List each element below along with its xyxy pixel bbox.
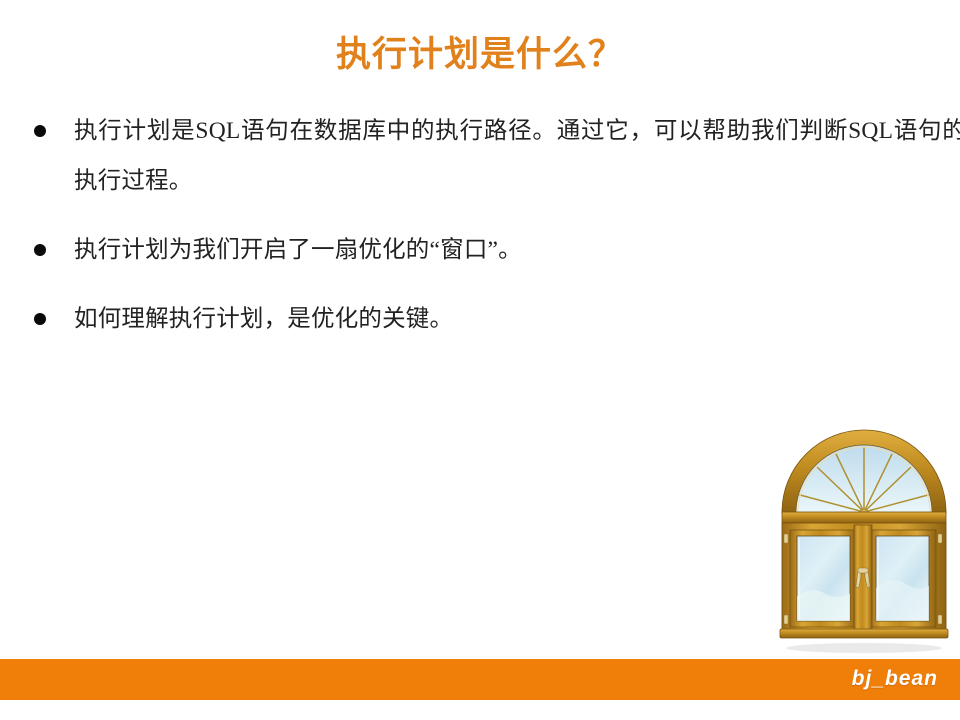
footer-bar: bj_bean xyxy=(0,659,960,700)
bullet-list: 执行计划是SQL语句在数据库中的执行路径。通过它，可以帮助我们判断SQL语句的执… xyxy=(28,106,948,363)
bullet-marker-icon xyxy=(34,244,46,256)
bullet-marker-icon xyxy=(34,313,46,325)
list-item: 执行计划是SQL语句在数据库中的执行路径。通过它，可以帮助我们判断SQL语句的执… xyxy=(28,106,948,206)
footer-brand-label: bj_bean xyxy=(852,667,938,691)
list-item-text: 执行计划为我们开启了一扇优化的“窗口”。 xyxy=(74,225,948,275)
list-item-text: 执行计划是SQL语句在数据库中的执行路径。通过它，可以帮助我们判断SQL语句的执… xyxy=(74,106,960,206)
arched-window-illustration xyxy=(772,382,954,654)
slide-canvas: 执行计划是什么？ 执行计划是SQL语句在数据库中的执行路径。通过它，可以帮助我们… xyxy=(0,0,960,720)
transom-rail xyxy=(782,512,946,523)
window-sill xyxy=(780,629,948,638)
footer-bottom-margin xyxy=(0,700,960,720)
list-item: 执行计划为我们开启了一扇优化的“窗口”。 xyxy=(28,225,948,275)
list-item: 如何理解执行计划，是优化的关键。 xyxy=(28,294,948,344)
window-shadow xyxy=(786,643,942,653)
list-item-text: 如何理解执行计划，是优化的关键。 xyxy=(74,294,948,344)
bullet-marker-icon xyxy=(34,125,46,137)
page-title: 执行计划是什么？ xyxy=(0,33,960,77)
